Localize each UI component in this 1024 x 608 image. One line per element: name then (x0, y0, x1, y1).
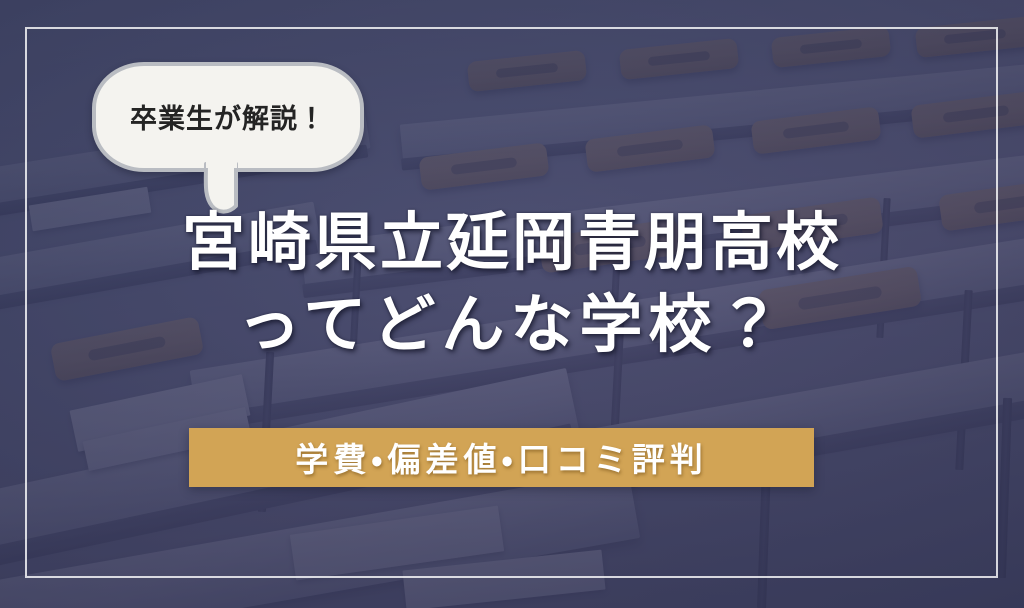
subtitle-tag: 学費・偏差値・口コミ評判 (189, 428, 814, 487)
page-title-line-2: ってどんな学校？ (0, 290, 1024, 358)
subtitle-tag-label: 学費・偏差値・口コミ評判 (295, 433, 707, 481)
article-hero-banner: 卒業生が解説！ 宮崎県立延岡青朋高校 ってどんな学校？ 学費・偏差値・口コミ評判 (0, 0, 1024, 608)
speech-bubble: 卒業生が解説！ (92, 62, 364, 172)
page-title-line-1: 宮崎県立延岡青朋高校 (0, 208, 1024, 276)
speech-bubble-label: 卒業生が解説！ (130, 97, 326, 136)
speech-bubble-body: 卒業生が解説！ (92, 62, 364, 172)
page-title: 宮崎県立延岡青朋高校 ってどんな学校？ (0, 208, 1024, 358)
